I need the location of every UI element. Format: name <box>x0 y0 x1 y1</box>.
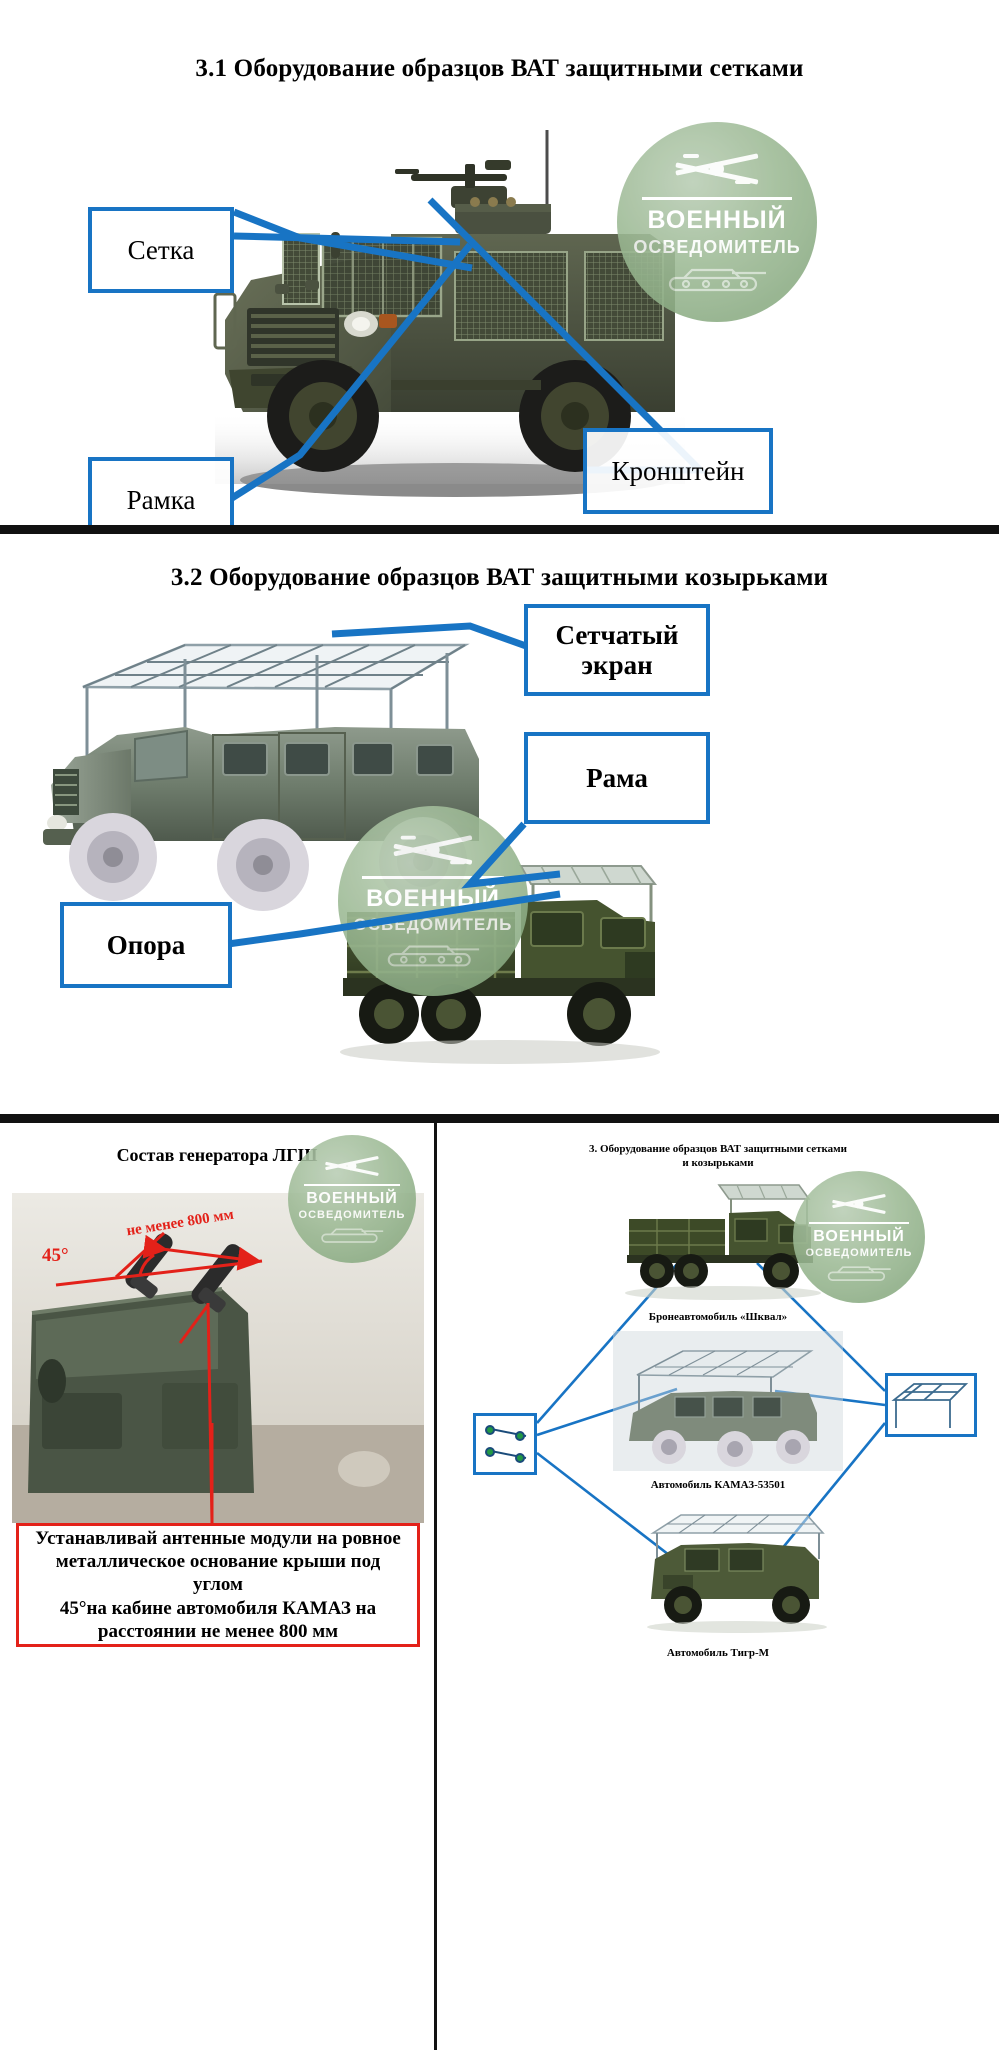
callout-setchatyi-ekran-line-2: экран <box>581 650 652 680</box>
callout-setka[interactable]: Сетка <box>88 207 234 293</box>
note-line-2: металлическое основание крыши под углом <box>29 1550 407 1596</box>
callout-setka-label: Сетка <box>128 235 195 265</box>
bottom-right-title-line-2: и козырьками <box>437 1157 999 1169</box>
note-line-4: расстоянии не менее 800 мм <box>29 1620 407 1643</box>
callout-ramka-label: Рамка <box>127 485 196 515</box>
callout-rama[interactable]: Рама <box>524 732 710 824</box>
angle-45-label: 45° <box>42 1245 69 1267</box>
red-annotation-overlay <box>12 1193 424 1523</box>
tank-silhouette-icon <box>823 1262 895 1284</box>
callout-opora[interactable]: Опора <box>60 902 232 988</box>
bottom-left-panel: Состав генератора ЛГШ ВОЕННЫЙ ОСВЕДОМИТЕ… <box>0 1123 434 2050</box>
caption-tigr: Автомобиль Тигр-М <box>437 1647 999 1659</box>
callout-ramka[interactable]: Рамка <box>88 457 234 525</box>
watermark-divider <box>304 1184 400 1186</box>
kamaz-cab-photo: 45° не менее 800 мм <box>12 1193 424 1523</box>
mini-shkval-illustration <box>613 1175 833 1305</box>
callout-kronshtein-label: Кронштейн <box>612 456 745 486</box>
bottom-left-title: Состав генератора ЛГШ <box>0 1145 434 1166</box>
section-divider-2 <box>0 1114 999 1123</box>
callout-setchatyi-ekran[interactable]: Сетчатый экран <box>524 604 710 696</box>
callout-opora-label: Опора <box>107 930 186 960</box>
caption-shkval: Бронеавтомобиль «Шквал» <box>437 1311 999 1323</box>
callout-setchatyi-ekran-line-1: Сетчатый <box>555 620 678 650</box>
note-line-3: 45°на кабине автомобиля КАМАЗ на <box>29 1597 407 1620</box>
section-3-1-panel: 3.1 Оборудование образцов ВАТ защитными … <box>0 0 999 525</box>
section-3-2-title: 3.2 Оборудование образцов ВАТ защитными … <box>0 564 999 592</box>
callout-kronshtein[interactable]: Кронштейн <box>583 428 773 514</box>
callout-rama-label: Рама <box>586 763 648 793</box>
bottom-composite-panel: Состав генератора ЛГШ ВОЕННЫЙ ОСВЕДОМИТЕ… <box>0 1123 999 2050</box>
mini-tigr-illustration <box>637 1503 837 1639</box>
bottom-right-title-line-1: 3. Оборудование образцов ВАТ защитными с… <box>437 1143 999 1155</box>
note-line-1: Устанавливай антенные модули на ровное <box>29 1527 407 1550</box>
ural-truck-with-canopy-illustration <box>325 856 670 1078</box>
caption-kamaz: Автомобиль КАМАЗ-53501 <box>437 1479 999 1491</box>
crossed-drone-icon <box>828 1191 890 1217</box>
installation-instruction-note: Устанавливай антенные модули на ровное м… <box>16 1523 420 1647</box>
detail-box-canopy-frame[interactable] <box>885 1373 977 1437</box>
section-3-1-title: 3.1 Оборудование образцов ВАТ защитными … <box>0 55 999 83</box>
section-divider-1 <box>0 525 999 534</box>
detail-box-bracket[interactable] <box>473 1413 537 1475</box>
mini-kamaz-illustration <box>613 1331 843 1471</box>
bottom-right-panel: 3. Оборудование образцов ВАТ защитными с… <box>434 1123 999 2050</box>
section-3-2-panel: 3.2 Оборудование образцов ВАТ защитными … <box>0 534 999 1114</box>
